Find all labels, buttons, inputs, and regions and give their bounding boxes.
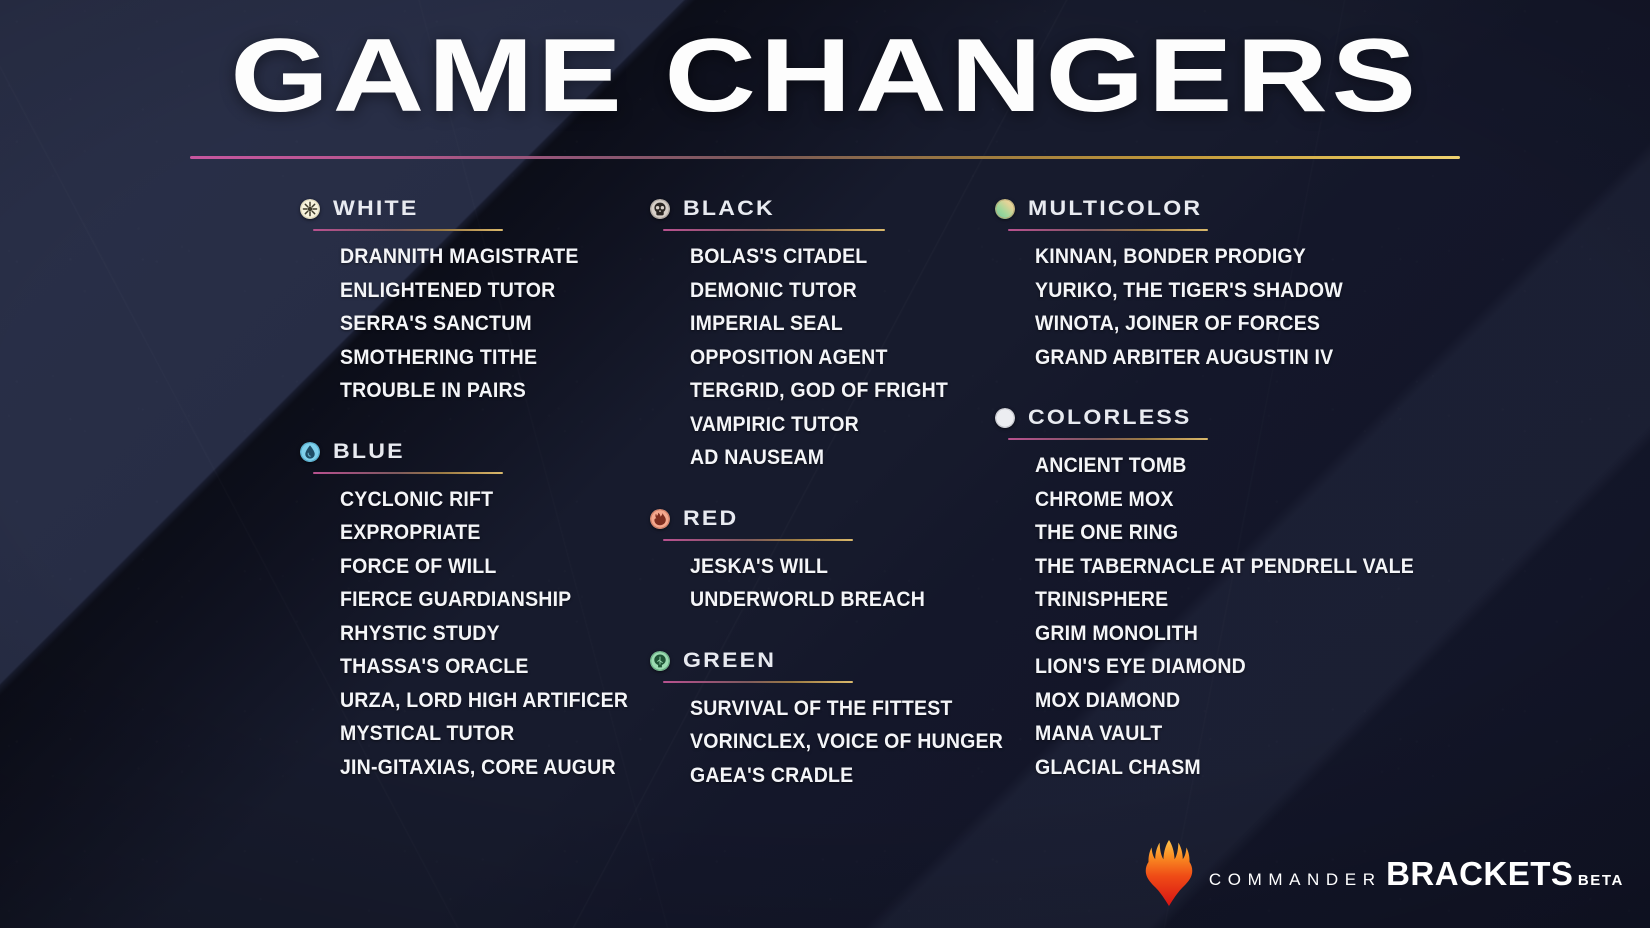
commander-brackets-logo: COMMANDER BRACKETS BETA	[1142, 840, 1624, 906]
list-item[interactable]: TROUBLE IN PAIRS	[340, 374, 642, 408]
page-title: GAME CHANGERS	[0, 24, 1650, 128]
list-item[interactable]: MOX DIAMOND	[1035, 684, 1388, 718]
list-item[interactable]: GRAND ARBITER AUGUSTIN IV	[1035, 341, 1388, 375]
logo-brackets-text: BRACKETS	[1386, 855, 1573, 892]
section-divider-multicolor	[1008, 229, 1208, 231]
list-item[interactable]: LION'S EYE DIAMOND	[1035, 650, 1388, 684]
section-red: RED JESKA'S WILL UNDERWORLD BREACH	[650, 506, 1000, 617]
list-item[interactable]: RHYSTIC STUDY	[340, 617, 642, 651]
section-divider-white	[313, 229, 503, 231]
section-divider-blue	[313, 472, 503, 474]
list-item[interactable]: SMOTHERING TITHE	[340, 341, 642, 375]
section-header-black: BLACK	[650, 196, 1000, 222]
list-item[interactable]: ENLIGHTENED TUTOR	[340, 274, 642, 308]
color-sections-grid: WHITE DRANNITH MAGISTRATE ENLIGHTENED TU…	[0, 196, 1650, 792]
list-item[interactable]: SERRA'S SANCTUM	[340, 307, 642, 341]
list-item[interactable]: FORCE OF WILL	[340, 550, 642, 584]
card-list-blue: CYCLONIC RIFT EXPROPRIATE FORCE OF WILL …	[300, 483, 665, 785]
section-white: WHITE DRANNITH MAGISTRATE ENLIGHTENED TU…	[300, 196, 665, 408]
section-header-green: GREEN	[650, 648, 1000, 674]
card-list-red: JESKA'S WILL UNDERWORLD BREACH	[650, 550, 1000, 617]
column-left: WHITE DRANNITH MAGISTRATE ENLIGHTENED TU…	[300, 196, 665, 792]
list-item[interactable]: KINNAN, BONDER PRODIGY	[1035, 240, 1388, 274]
list-item[interactable]: DEMONIC TUTOR	[690, 274, 978, 308]
section-label-red: RED	[683, 507, 738, 531]
list-item[interactable]: JESKA'S WILL	[690, 550, 978, 584]
section-colorless: COLORLESS ANCIENT TOMB CHROME MOX THE ON…	[995, 405, 1415, 784]
card-list-colorless: ANCIENT TOMB CHROME MOX THE ONE RING THE…	[995, 449, 1415, 784]
section-header-colorless: COLORLESS	[995, 405, 1415, 431]
list-item[interactable]: BOLAS'S CITADEL	[690, 240, 978, 274]
card-list-black: BOLAS'S CITADEL DEMONIC TUTOR IMPERIAL S…	[650, 240, 1000, 475]
list-item[interactable]: TRINISPHERE	[1035, 583, 1388, 617]
list-item[interactable]: SURVIVAL OF THE FITTEST	[690, 692, 978, 726]
colorless-mana-icon	[995, 408, 1015, 428]
list-item[interactable]: URZA, LORD HIGH ARTIFICER	[340, 684, 642, 718]
list-item[interactable]: WINOTA, JOINER OF FORCES	[1035, 307, 1388, 341]
logo-wordmark: COMMANDER BRACKETS BETA	[1209, 857, 1624, 890]
game-changers-infographic: GAME CHANGERS	[0, 0, 1650, 928]
section-blue: BLUE CYCLONIC RIFT EXPROPRIATE FORCE OF …	[300, 439, 665, 785]
list-item[interactable]: MANA VAULT	[1035, 717, 1388, 751]
section-header-blue: BLUE	[300, 439, 665, 465]
header: GAME CHANGERS	[0, 24, 1650, 128]
card-list-green: SURVIVAL OF THE FITTEST VORINCLEX, VOICE…	[650, 692, 1000, 793]
logo-commander-text: COMMANDER	[1209, 870, 1382, 889]
section-label-multicolor: MULTICOLOR	[1028, 197, 1202, 221]
list-item[interactable]: THASSA'S ORACLE	[340, 650, 642, 684]
section-divider-black	[663, 229, 885, 231]
green-mana-icon	[650, 651, 670, 671]
mtg-planeswalker-flame-icon	[1142, 840, 1196, 906]
list-item[interactable]: THE TABERNACLE AT PENDRELL VALE	[1035, 550, 1388, 584]
blue-mana-icon	[300, 442, 320, 462]
list-item[interactable]: CYCLONIC RIFT	[340, 483, 642, 517]
column-middle: BLACK BOLAS'S CITADEL DEMONIC TUTOR IMPE…	[650, 196, 1000, 792]
section-green: GREEN SURVIVAL OF THE FITTEST VORINCLEX,…	[650, 648, 1000, 793]
list-item[interactable]: ANCIENT TOMB	[1035, 449, 1388, 483]
column-right: MULTICOLOR KINNAN, BONDER PRODIGY YURIKO…	[995, 196, 1415, 792]
section-header-white: WHITE	[300, 196, 665, 222]
section-header-red: RED	[650, 506, 1000, 532]
list-item[interactable]: GRIM MONOLITH	[1035, 617, 1388, 651]
card-list-multicolor: KINNAN, BONDER PRODIGY YURIKO, THE TIGER…	[995, 240, 1415, 374]
section-label-black: BLACK	[683, 197, 775, 221]
black-mana-icon	[650, 199, 670, 219]
multicolor-mana-icon	[995, 199, 1015, 219]
white-mana-icon	[300, 199, 320, 219]
section-label-white: WHITE	[333, 197, 418, 221]
card-list-white: DRANNITH MAGISTRATE ENLIGHTENED TUTOR SE…	[300, 240, 665, 408]
list-item[interactable]: JIN-GITAXIAS, CORE AUGUR	[340, 751, 642, 785]
list-item[interactable]: CHROME MOX	[1035, 483, 1388, 517]
section-header-multicolor: MULTICOLOR	[995, 196, 1415, 222]
title-divider	[190, 156, 1460, 159]
list-item[interactable]: THE ONE RING	[1035, 516, 1388, 550]
list-item[interactable]: GLACIAL CHASM	[1035, 751, 1388, 785]
list-item[interactable]: GAEA'S CRADLE	[690, 759, 978, 793]
section-divider-colorless	[1008, 438, 1208, 440]
section-divider-red	[663, 539, 853, 541]
logo-beta-badge: BETA	[1578, 872, 1624, 889]
list-item[interactable]: OPPOSITION AGENT	[690, 341, 978, 375]
list-item[interactable]: AD NAUSEAM	[690, 441, 978, 475]
list-item[interactable]: YURIKO, THE TIGER'S SHADOW	[1035, 274, 1388, 308]
list-item[interactable]: TERGRID, GOD OF FRIGHT	[690, 374, 978, 408]
list-item[interactable]: DRANNITH MAGISTRATE	[340, 240, 642, 274]
list-item[interactable]: EXPROPRIATE	[340, 516, 642, 550]
section-divider-green	[663, 681, 853, 683]
list-item[interactable]: FIERCE GUARDIANSHIP	[340, 583, 642, 617]
section-label-colorless: COLORLESS	[1028, 406, 1192, 430]
red-mana-icon	[650, 509, 670, 529]
section-label-green: GREEN	[683, 649, 776, 673]
list-item[interactable]: IMPERIAL SEAL	[690, 307, 978, 341]
list-item[interactable]: MYSTICAL TUTOR	[340, 717, 642, 751]
section-label-blue: BLUE	[333, 440, 405, 464]
section-multicolor: MULTICOLOR KINNAN, BONDER PRODIGY YURIKO…	[995, 196, 1415, 374]
list-item[interactable]: VORINCLEX, VOICE OF HUNGER	[690, 725, 978, 759]
list-item[interactable]: VAMPIRIC TUTOR	[690, 408, 978, 442]
section-black: BLACK BOLAS'S CITADEL DEMONIC TUTOR IMPE…	[650, 196, 1000, 475]
list-item[interactable]: UNDERWORLD BREACH	[690, 583, 978, 617]
